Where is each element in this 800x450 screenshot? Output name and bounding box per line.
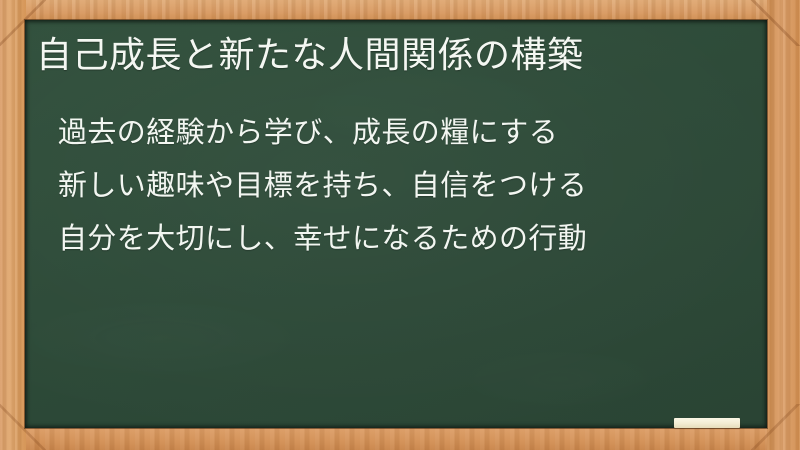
chalkboard-slide: 自己成長と新たな人間関係の構築 過去の経験から学び、成長の糧にする 新しい趣味や…: [0, 0, 800, 450]
frame-rail-bottom-ledge: [0, 428, 800, 450]
chalkboard-content: 自己成長と新たな人間関係の構築 過去の経験から学び、成長の糧にする 新しい趣味や…: [25, 20, 767, 428]
frame-rail-right: [767, 0, 800, 450]
frame-rail-left: [0, 0, 26, 450]
slide-body-line: 自分を大切にし、幸せになるための行動: [58, 212, 755, 265]
slide-body-line: 新しい趣味や目標を持ち、自信をつける: [58, 159, 755, 212]
frame-rail-top: [0, 0, 800, 20]
chalk-stick-icon: [674, 418, 740, 428]
slide-title: 自己成長と新たな人間関係の構築: [36, 32, 584, 80]
chalkboard-surface: 自己成長と新たな人間関係の構築 過去の経験から学び、成長の糧にする 新しい趣味や…: [25, 20, 767, 428]
slide-body-line: 過去の経験から学び、成長の糧にする: [58, 106, 755, 159]
slide-body-list: 過去の経験から学び、成長の糧にする 新しい趣味や目標を持ち、自信をつける 自分を…: [58, 106, 755, 265]
